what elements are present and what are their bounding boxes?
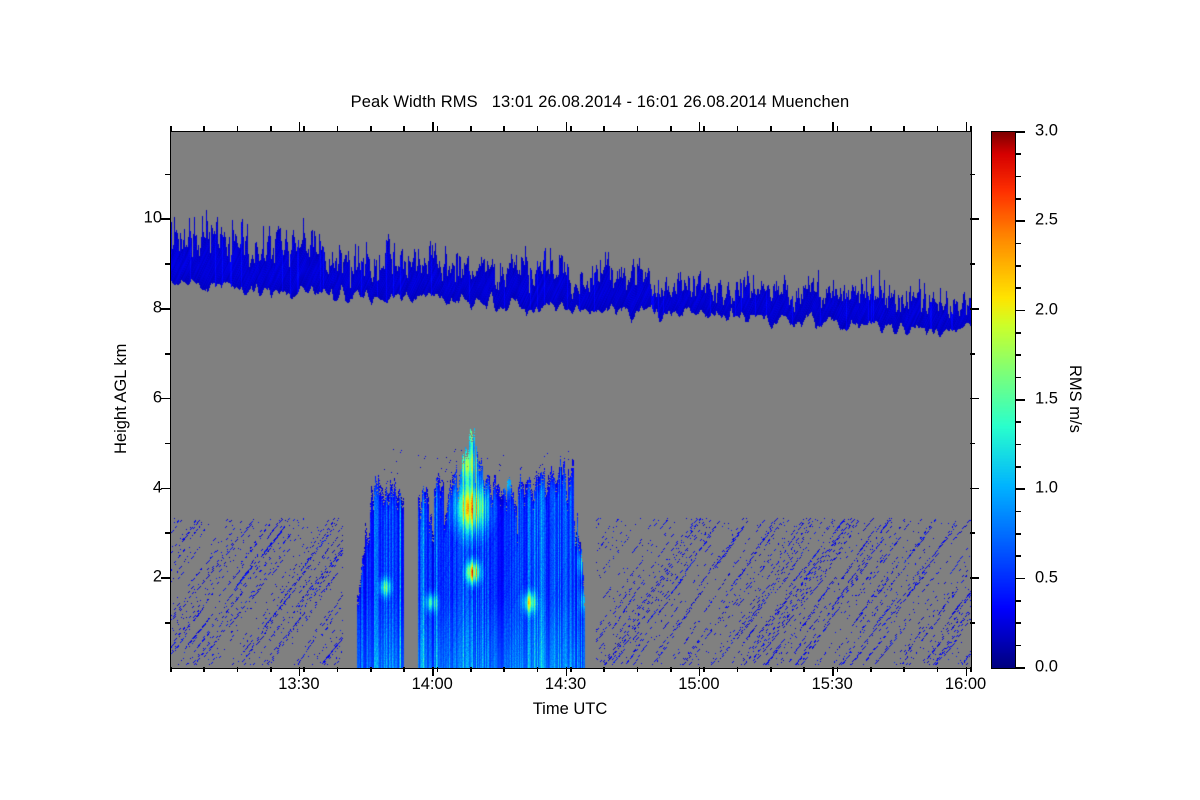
plot-title: Peak Width RMS 13:01 26.08.2014 - 16:01 … [0,93,1200,112]
colorbar-tick-label: 2.0 [1035,300,1058,319]
x-tick-minor-top [737,126,739,131]
x-tick-minor-top [837,126,839,131]
x-tick-major-top [966,122,968,131]
colorbar-tick-label: 2.5 [1035,211,1058,230]
x-tick-major-top [299,122,301,131]
x-tick-minor [170,667,172,672]
x-tick-label: 16:00 [945,675,986,694]
x-tick-label: 13:30 [278,675,319,694]
colorbar-tick-label: 1.5 [1035,390,1058,409]
x-tick-minor-top [470,126,472,131]
x-tick-major-top [699,122,701,131]
x-tick-minor-top [603,126,605,131]
lidar-time-height-figure: Peak Width RMS 13:01 26.08.2014 - 16:01 … [0,0,1200,800]
x-tick-minor [570,667,572,672]
colorbar-tick-major [1016,667,1025,669]
x-tick-minor-top [637,126,639,131]
x-tick-minor-top [570,126,572,131]
colorbar-tick-label: 1.0 [1035,479,1058,498]
colorbar-title-wrap: RMS m/s [1066,131,1086,667]
y-tick-major [161,398,170,400]
x-tick-minor [370,667,372,672]
x-tick-minor [203,667,205,672]
y-tick-minor-right [970,353,975,355]
x-tick-minor-top [203,126,205,131]
y-tick-major-right [970,308,979,310]
x-tick-major-top [566,122,568,131]
colorbar-tick-label: 0.5 [1035,568,1058,587]
x-tick-minor [737,667,739,672]
x-tick-minor [870,667,872,672]
y-tick-label: 10 [144,209,162,228]
x-tick-minor-top [437,126,439,131]
x-tick-minor [270,667,272,672]
y-tick-major [161,308,170,310]
y-axis-title: Height AGL km [112,344,131,454]
y-tick-minor-right [970,263,975,265]
x-tick-minor [837,667,839,672]
x-tick-minor-top [903,126,905,131]
y-tick-major [161,488,170,490]
x-tick-minor [637,667,639,672]
y-tick-minor-right [970,443,975,445]
x-tick-minor [237,667,239,672]
y-tick-label: 4 [153,478,162,497]
x-tick-minor [537,667,539,672]
y-tick-minor [165,622,170,624]
x-tick-major-top [432,122,434,131]
x-tick-minor [603,667,605,672]
y-tick-major [161,577,170,579]
x-tick-minor-top [870,126,872,131]
y-tick-minor-right [970,532,975,534]
x-tick-minor [803,667,805,672]
y-tick-label: 2 [153,568,162,587]
x-tick-minor-top [803,126,805,131]
y-tick-major [161,218,170,220]
x-tick-minor-top [370,126,372,131]
x-tick-minor-top [303,126,305,131]
x-tick-minor [437,667,439,672]
y-tick-label: 6 [153,388,162,407]
x-tick-minor [303,667,305,672]
x-tick-label: 14:00 [412,675,453,694]
x-tick-label: 15:30 [812,675,853,694]
x-tick-minor-top [170,126,172,131]
x-tick-minor-top [937,126,939,131]
x-tick-minor-top [537,126,539,131]
y-tick-minor [165,443,170,445]
x-tick-minor-top [670,126,672,131]
x-tick-minor-top [503,126,505,131]
y-tick-minor-right [970,174,975,176]
x-tick-major-top [832,122,834,131]
x-tick-minor [403,667,405,672]
x-tick-minor-top [337,126,339,131]
x-tick-minor-top [970,126,972,131]
x-tick-minor [503,667,505,672]
y-tick-major-right [970,398,979,400]
x-tick-minor-top [770,126,772,131]
x-axis-title: Time UTC [170,700,970,719]
y-tick-label: 8 [153,299,162,318]
x-tick-minor [937,667,939,672]
y-axis-title-wrap: Height AGL km [112,131,132,667]
x-tick-minor-top [270,126,272,131]
y-tick-minor-right [970,622,975,624]
colorbar-tick-labels: 0.00.51.01.52.02.53.0 [1018,131,1068,667]
x-tick-minor [470,667,472,672]
x-tick-label: 15:00 [678,675,719,694]
y-tick-minor [165,174,170,176]
y-tick-major-right [970,577,979,579]
y-tick-minor [165,532,170,534]
x-axis-tick-labels: 13:3014:0014:3015:0015:3016:00 [170,675,970,699]
heatmap-canvas[interactable] [171,132,971,668]
x-tick-minor-top [703,126,705,131]
x-tick-minor-top [237,126,239,131]
x-tick-minor [770,667,772,672]
x-tick-minor [337,667,339,672]
x-tick-label: 14:30 [545,675,586,694]
x-tick-minor [903,667,905,672]
x-tick-minor [970,667,972,672]
x-tick-minor [670,667,672,672]
colorbar-tick-label: 0.0 [1035,658,1058,677]
y-tick-major-right [970,488,979,490]
x-tick-minor [703,667,705,672]
y-tick-minor [165,263,170,265]
colorbar-tick-label: 3.0 [1035,122,1058,141]
y-tick-major-right [970,218,979,220]
x-tick-minor-top [403,126,405,131]
y-tick-minor [165,353,170,355]
plot-area[interactable] [170,131,972,669]
colorbar-title: RMS m/s [1065,365,1084,433]
